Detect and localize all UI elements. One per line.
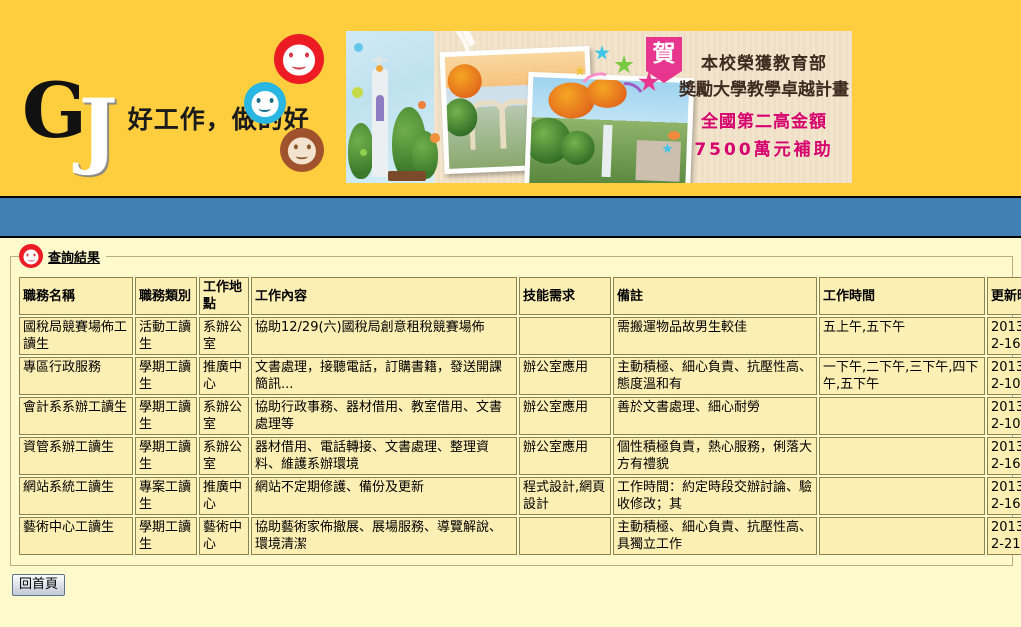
blue-face-eye-left — [257, 98, 261, 103]
cell-job-location: 推廣中心 — [199, 477, 249, 515]
cell-job-hours — [819, 477, 985, 515]
main-navigation-bar[interactable] — [0, 196, 1021, 238]
cell-job-title: 網站系統工讀生 — [19, 477, 133, 515]
table-row: 國稅局競賽場佈工讀生活動工讀生系辦公室協助12/29(六)國稅局創意租稅競賽場佈… — [19, 317, 1021, 355]
cell-job-hours: 一下午,二下午,三下午,四下午,五下午 — [819, 357, 985, 395]
banner-dot-3 — [352, 87, 363, 98]
brown-face-icon — [280, 128, 324, 172]
brown-face-eye-left — [294, 144, 298, 149]
table-row: 會計系系辦工讀生學期工讀生系辦公室協助行政事務、器材借用、教室借用、文書處理等辦… — [19, 397, 1021, 435]
cell-job-content: 協助行政事務、器材借用、教室借用、文書處理等 — [251, 397, 517, 435]
cell-job-category: 活動工讀生 — [135, 317, 197, 355]
banner-line-4: 7500萬元補助 — [676, 137, 852, 163]
cell-job-note: 個性積極負責，熱心服務，俐落大方有禮貌 — [613, 437, 817, 475]
banner-dot-1 — [354, 43, 363, 52]
column-header-content: 工作內容 — [251, 277, 517, 315]
cell-job-category: 學期工讀生 — [135, 397, 197, 435]
cell-job-skills — [519, 317, 611, 355]
cell-job-content: 網站不定期修護、備份及更新 — [251, 477, 517, 515]
cell-job-category: 學期工讀生 — [135, 517, 197, 555]
banner-bench — [388, 171, 426, 181]
page-content: 查詢結果 職務名稱 職務類別 工作地點 工作內容 技能需求 備註 工作時間 更新… — [0, 238, 1021, 627]
red-face-mouth — [292, 62, 306, 70]
banner-text-block: 本校榮獲教育部 獎勵大學教學卓越計畫 全國第二高金額 7500萬元補助 — [676, 51, 852, 163]
column-header-title: 職務名稱 — [19, 277, 133, 315]
cell-job-note: 需搬運物品故男生較佳 — [613, 317, 817, 355]
column-header-note: 備註 — [613, 277, 817, 315]
cell-job-location: 推廣中心 — [199, 357, 249, 395]
cell-job-skills: 辦公室應用 — [519, 357, 611, 395]
table-row: 網站系統工讀生專案工讀生推廣中心網站不定期修護、備份及更新程式設計,網頁設計工作… — [19, 477, 1021, 515]
brown-face-mouth — [296, 152, 308, 159]
cell-job-content: 文書處理，接聽電話，訂購書籍，發送開課簡訊... — [251, 357, 517, 395]
cell-job-updated: 2013-12-21 — [987, 517, 1021, 555]
cell-job-hours — [819, 437, 985, 475]
cell-job-category: 學期工讀生 — [135, 357, 197, 395]
banner-dot-2 — [376, 65, 383, 72]
cell-job-location: 系辦公室 — [199, 437, 249, 475]
cell-job-note: 主動積極、細心負責、抗壓性高、具獨立工作 — [613, 517, 817, 555]
back-to-home-button[interactable]: 回首頁 — [12, 574, 65, 596]
cell-job-content: 協助12/29(六)國稅局創意租稅競賽場佈 — [251, 317, 517, 355]
cell-job-category: 學期工讀生 — [135, 437, 197, 475]
query-result-legend: 查詢結果 — [19, 244, 106, 268]
column-header-location: 工作地點 — [199, 277, 249, 315]
red-face-icon — [19, 244, 43, 268]
cell-job-location: 系辦公室 — [199, 317, 249, 355]
cell-job-updated: 2013-12-10 — [987, 357, 1021, 395]
page-header: G J 好工作，做的好 — [0, 0, 1021, 196]
table-body: 國稅局競賽場佈工讀生活動工讀生系辦公室協助12/29(六)國稅局創意租稅競賽場佈… — [19, 317, 1021, 555]
cell-job-title: 藝術中心工讀生 — [19, 517, 133, 555]
cell-job-updated: 2013-12-16 — [987, 477, 1021, 515]
table-row: 藝術中心工讀生學期工讀生藝術中心協助藝術家佈撤展、展場服務、導覽解說、環境清潔主… — [19, 517, 1021, 555]
banner-line-2: 獎勵大學教學卓越計畫 — [676, 77, 852, 103]
cell-job-title: 資管系辦工讀生 — [19, 437, 133, 475]
column-header-hours: 工作時間 — [819, 277, 985, 315]
column-header-updated: 更新時間 — [987, 277, 1021, 315]
banner-line-3: 全國第二高金額 — [676, 107, 852, 137]
banner-chapel-tower — [372, 69, 388, 177]
column-header-skills: 技能需求 — [519, 277, 611, 315]
cell-job-hours — [819, 517, 985, 555]
cell-job-note: 工作時間：約定時段交辦討論、驗收修改；其 — [613, 477, 817, 515]
blue-face-inner — [252, 91, 279, 117]
column-header-category: 職務類別 — [135, 277, 197, 315]
blue-face-eye-right — [269, 98, 273, 103]
cell-job-skills: 辦公室應用 — [519, 437, 611, 475]
cell-job-title: 國稅局競賽場佈工讀生 — [19, 317, 133, 355]
brown-face-eye-right — [306, 144, 310, 149]
banner-dot-5 — [430, 133, 440, 143]
blue-face-mouth — [259, 105, 271, 112]
cell-job-updated: 2013-12-10 — [987, 397, 1021, 435]
logo-letter-j: J — [79, 100, 118, 160]
campus-award-banner[interactable]: 賀 本校榮獲教育部 獎勵大學教學卓越計畫 全國第二高金額 7500萬元補助 — [343, 28, 855, 186]
cell-job-hours: 五上午,五下午 — [819, 317, 985, 355]
banner-dot-4 — [418, 101, 426, 109]
cell-job-skills: 辦公室應用 — [519, 397, 611, 435]
cell-job-note: 主動積極、細心負責、抗壓性高、態度溫和有 — [613, 357, 817, 395]
cell-job-location: 藝術中心 — [199, 517, 249, 555]
cell-job-title: 專區行政服務 — [19, 357, 133, 395]
red-face-icon — [274, 34, 324, 84]
cell-job-category: 專案工讀生 — [135, 477, 197, 515]
banner-dot-6 — [360, 149, 367, 156]
cell-job-content: 協助藝術家佈撤展、展場服務、導覽解說、環境清潔 — [251, 517, 517, 555]
cell-job-title: 會計系系辦工讀生 — [19, 397, 133, 435]
red-face-eye-left — [289, 53, 293, 58]
cell-job-updated: 2013-12-16 — [987, 437, 1021, 475]
query-result-title: 查詢結果 — [48, 247, 100, 266]
job-results-table: 職務名稱 職務類別 工作地點 工作內容 技能需求 備註 工作時間 更新時間 國稅… — [17, 275, 1021, 557]
cell-job-skills — [519, 517, 611, 555]
red-face-eye-right — [305, 53, 309, 58]
cell-job-updated: 2013-12-16 — [987, 317, 1021, 355]
cell-job-note: 善於文書處理、細心耐勞 — [613, 397, 817, 435]
table-row: 專區行政服務學期工讀生推廣中心文書處理，接聽電話，訂購書籍，發送開課簡訊...辦… — [19, 357, 1021, 395]
cell-job-hours — [819, 397, 985, 435]
table-row: 資管系辦工讀生學期工讀生系辦公室器材借用、電話轉接、文書處理、整理資料、維護系辦… — [19, 437, 1021, 475]
banner-line-1: 本校榮獲教育部 — [676, 51, 852, 77]
cell-job-location: 系辦公室 — [199, 397, 249, 435]
red-face-inner — [283, 45, 315, 76]
query-result-panel: 查詢結果 職務名稱 職務類別 工作地點 工作內容 技能需求 備註 工作時間 更新… — [10, 256, 1013, 566]
blue-face-icon — [244, 82, 286, 124]
logo-letter-g: G — [22, 80, 75, 142]
brown-face-inner — [288, 137, 316, 164]
cell-job-content: 器材借用、電話轉接、文書處理、整理資料、維護系辦環境 — [251, 437, 517, 475]
table-header-row: 職務名稱 職務類別 工作地點 工作內容 技能需求 備註 工作時間 更新時間 — [19, 277, 1021, 315]
cell-job-skills: 程式設計,網頁設計 — [519, 477, 611, 515]
